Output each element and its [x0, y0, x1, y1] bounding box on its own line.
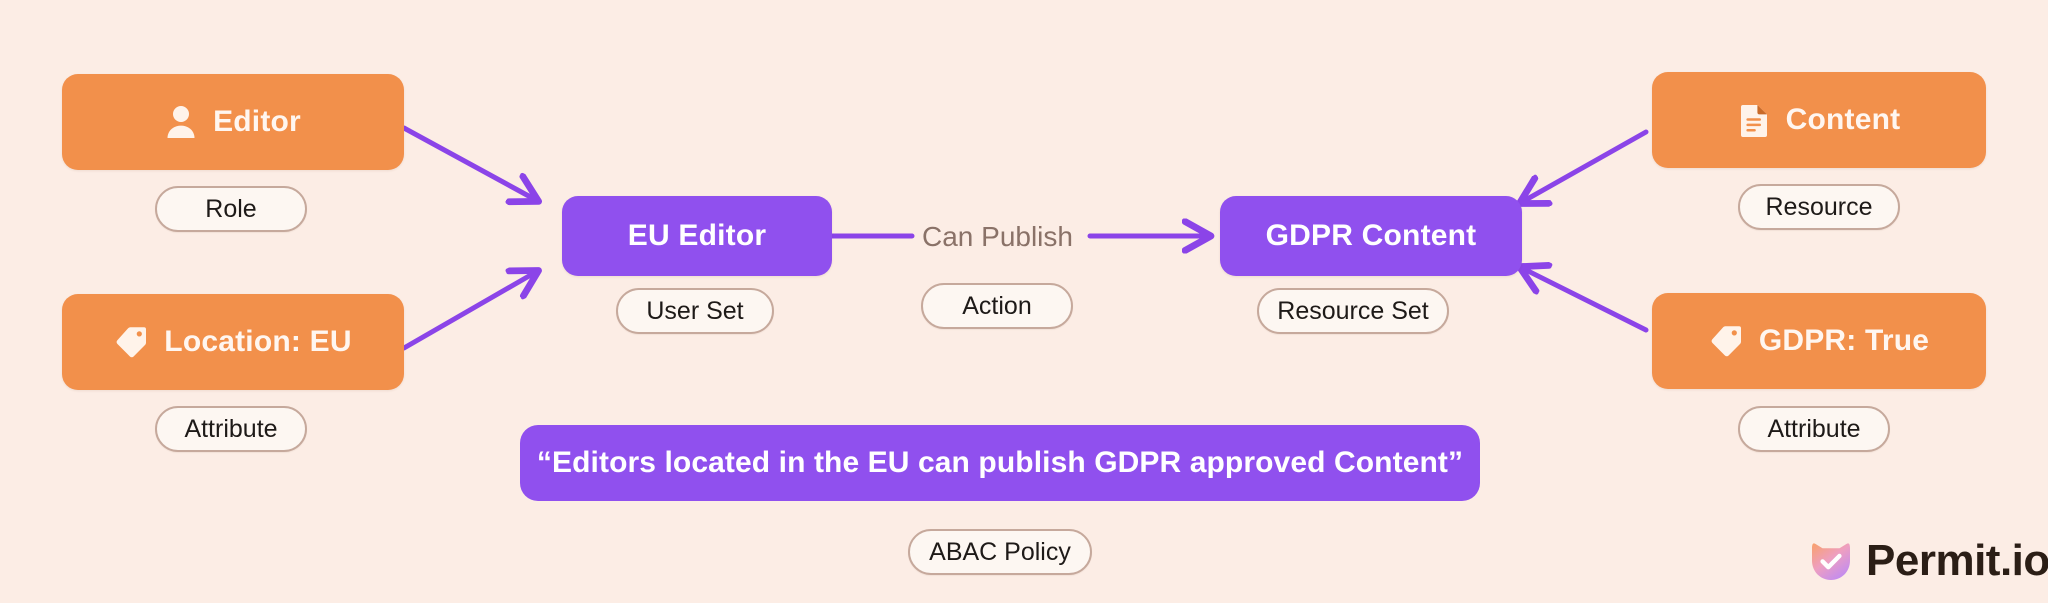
edge-location-to-eu-editor [404, 272, 536, 348]
node-gdpr-content[interactable]: GDPR Content [1220, 196, 1522, 276]
node-location-label: Location: EU [164, 327, 351, 357]
pill-abac-policy-label: ABAC Policy [929, 538, 1071, 567]
policy-statement-banner[interactable]: “Editors located in the EU can publish G… [520, 425, 1480, 501]
node-location[interactable]: Location: EU [62, 294, 404, 390]
edge-editor-to-eu-editor [404, 128, 536, 200]
pill-abac-policy[interactable]: ABAC Policy [908, 529, 1092, 575]
pill-action[interactable]: Action [921, 283, 1073, 329]
pill-attribute-gdpr[interactable]: Attribute [1738, 406, 1890, 452]
pill-attribute-location[interactable]: Attribute [155, 406, 307, 452]
permit-wordmark: Permit.io [1866, 539, 2048, 583]
pill-user-set[interactable]: User Set [616, 288, 774, 334]
pill-resource[interactable]: Resource [1738, 184, 1900, 230]
permit-cat-icon [1808, 538, 1854, 584]
node-gdpr-true[interactable]: GDPR: True [1652, 293, 1986, 389]
edge-gdpr-true-to-gdpr-content [1522, 268, 1646, 330]
node-eu-editor-label: EU Editor [628, 221, 766, 251]
pill-action-label: Action [962, 292, 1031, 321]
pill-role[interactable]: Role [155, 186, 307, 232]
permit-logo[interactable]: Permit.io [1808, 538, 2048, 584]
tag-icon [114, 325, 148, 359]
tag-icon [1709, 324, 1743, 358]
user-icon [165, 104, 197, 140]
pill-role-label: Role [205, 195, 256, 224]
policy-statement-text: “Editors located in the EU can publish G… [537, 446, 1463, 480]
pill-attribute-location-label: Attribute [184, 415, 277, 444]
node-content[interactable]: Content [1652, 72, 1986, 168]
pill-resource-label: Resource [1766, 193, 1873, 222]
diagram-canvas: Editor Role Location: EU Attribute EU Ed… [0, 0, 2048, 603]
pill-resource-set-label: Resource Set [1277, 297, 1428, 326]
document-icon [1738, 102, 1770, 138]
node-content-label: Content [1786, 105, 1901, 135]
edge-label-can-publish: Can Publish [922, 221, 1073, 253]
pill-resource-set[interactable]: Resource Set [1257, 288, 1449, 334]
node-eu-editor[interactable]: EU Editor [562, 196, 832, 276]
pill-attribute-gdpr-label: Attribute [1767, 415, 1860, 444]
pill-user-set-label: User Set [646, 297, 743, 326]
node-gdpr-content-label: GDPR Content [1266, 221, 1477, 251]
node-gdpr-true-label: GDPR: True [1759, 326, 1929, 356]
node-editor-label: Editor [213, 107, 301, 137]
edge-content-to-gdpr-content [1522, 132, 1646, 202]
node-editor[interactable]: Editor [62, 74, 404, 170]
